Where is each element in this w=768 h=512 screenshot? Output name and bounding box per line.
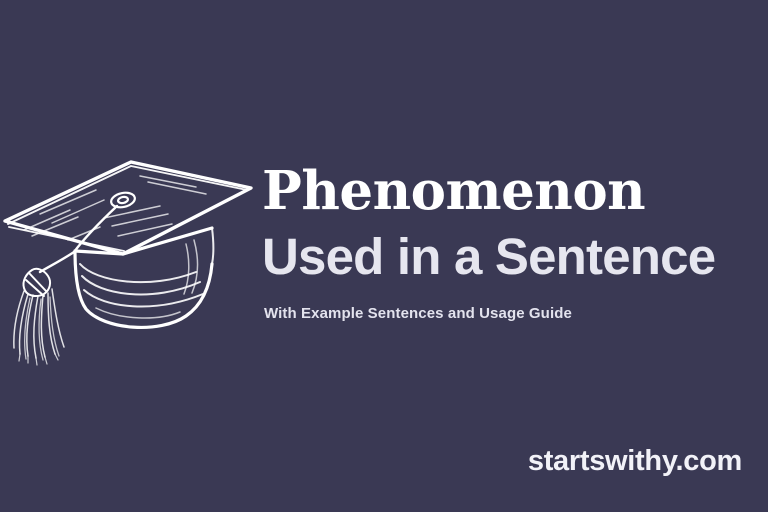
brand-watermark: startswithy.com [528,445,742,478]
promo-card: Phenomenon Used in a Sentence With Examp… [0,0,768,512]
page-title-word: Phenomenon [262,160,762,222]
page-subtitle: With Example Sentences and Usage Guide [264,304,762,324]
headline-block: Phenomenon Used in a Sentence With Examp… [262,160,762,324]
page-title-phrase: Used in a Sentence [262,228,762,286]
graduation-cap-icon [0,148,262,372]
